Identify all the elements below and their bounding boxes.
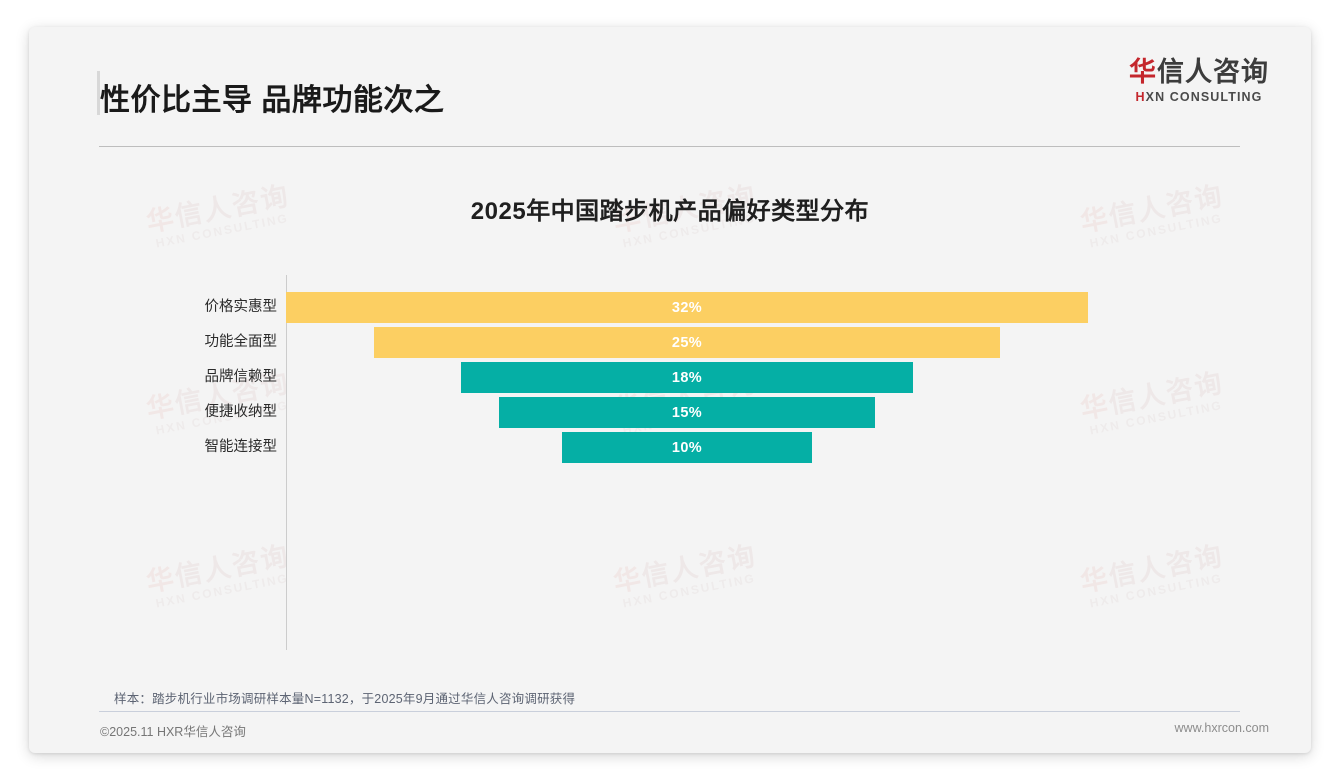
bar-row: 品牌信赖型 18%: [99, 362, 1240, 393]
chart-container: 2025年中国踏步机产品偏好类型分布 价格实惠型 32% 功能全面型 25% 品…: [29, 147, 1311, 677]
bar-value-label: 32%: [672, 300, 702, 316]
logo-en-red-char: H: [1136, 90, 1146, 104]
company-logo: 华信人咨询 HXN CONSULTING: [1129, 59, 1269, 104]
sample-footnote: 样本：踏步机行业市场调研样本量N=1132，于2025年9月通过华信人咨询调研获…: [114, 688, 575, 707]
copyright-text: ©2025.11 HXR华信人咨询: [100, 721, 246, 740]
bar-price-friendly[interactable]: 32%: [286, 292, 1088, 323]
category-label: 功能全面型: [99, 327, 277, 358]
bar-row: 价格实惠型 32%: [99, 292, 1240, 323]
bar-value-label: 10%: [672, 440, 702, 456]
bar-smart-connect[interactable]: 10%: [562, 432, 813, 463]
bar-brand-trust[interactable]: 18%: [461, 362, 912, 393]
bar-value-label: 15%: [672, 405, 702, 421]
logo-chinese-name: 华信人咨询: [1129, 59, 1269, 86]
website-url[interactable]: www.hxrcon.com: [1175, 721, 1269, 735]
category-label: 品牌信赖型: [99, 362, 277, 393]
category-label: 便捷收纳型: [99, 397, 277, 428]
slide-page: 华信人咨询 HXN CONSULTING 华信人咨询 HXN CONSULTIN…: [29, 27, 1311, 753]
footer-divider: [99, 711, 1240, 712]
bar-row: 便捷收纳型 15%: [99, 397, 1240, 428]
bar-value-label: 18%: [672, 370, 702, 386]
bar-row: 智能连接型 10%: [99, 432, 1240, 463]
logo-en-rest: XN CONSULTING: [1146, 90, 1263, 104]
bar-value-label: 25%: [672, 335, 702, 351]
chart-title: 2025年中国踏步机产品偏好类型分布: [29, 191, 1311, 226]
page-title: 性价比主导 品牌功能次之: [100, 75, 444, 119]
logo-cn-red-char: 华: [1129, 57, 1157, 87]
logo-english-name: HXN CONSULTING: [1129, 91, 1269, 104]
category-label: 价格实惠型: [99, 292, 277, 323]
bar-full-featured[interactable]: 25%: [374, 327, 1001, 358]
chart-plot-area: 价格实惠型 32% 功能全面型 25% 品牌信赖型 18% 便捷收纳型: [99, 275, 1240, 650]
category-label: 智能连接型: [99, 432, 277, 463]
slide-header: 性价比主导 品牌功能次之 华信人咨询 HXN CONSULTING: [29, 27, 1311, 121]
bar-portable-storage[interactable]: 15%: [499, 397, 875, 428]
logo-cn-rest: 信人咨询: [1157, 57, 1269, 87]
bar-row: 功能全面型 25%: [99, 327, 1240, 358]
